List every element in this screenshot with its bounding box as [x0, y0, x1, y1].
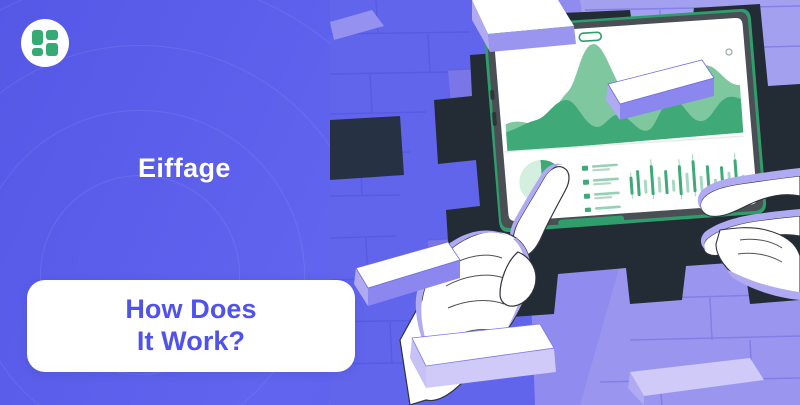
- logo-tile-bottom-right: [46, 43, 58, 56]
- four-squares-grid-icon: [32, 30, 58, 56]
- headline-card: How Does It Work?: [27, 280, 355, 372]
- promo-banner: Eiffage How Does It Work?: [0, 0, 800, 405]
- floating-block-upper-right-corner: [472, 0, 576, 52]
- client-name: Eiffage: [138, 155, 231, 182]
- headline-line-2: It Work?: [137, 326, 245, 358]
- illustration-hands-tablet-wall: [330, 0, 800, 405]
- logo-tile-top-left: [32, 30, 43, 45]
- logo-tile-bottom-left: [32, 48, 43, 56]
- logo-tile-top-right: [46, 30, 58, 40]
- brand-logo[interactable]: [21, 19, 69, 67]
- headline-line-1: How Does: [125, 294, 256, 326]
